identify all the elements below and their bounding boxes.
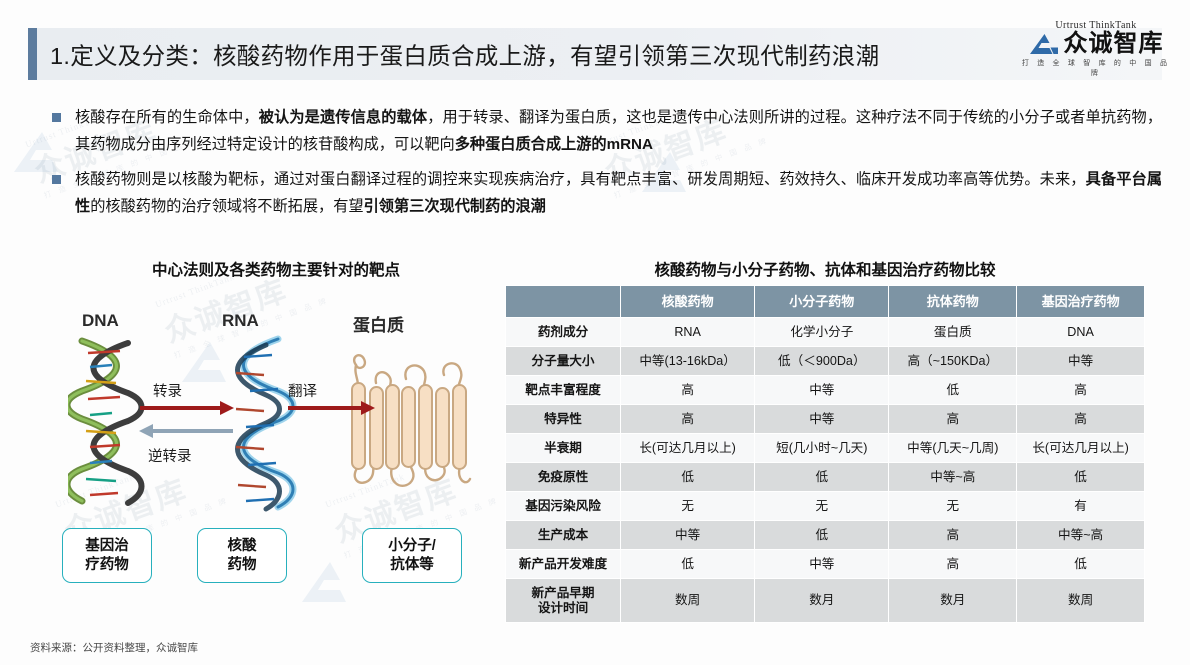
table-cell: 中等(13-16kDa） — [621, 347, 755, 376]
label-protein: 蛋白质 — [353, 311, 404, 336]
transcription-arrow-icon — [140, 400, 235, 416]
dna-helix-illustration — [68, 337, 148, 517]
table-row-header: 生产成本 — [506, 521, 621, 550]
table-cell: 低 — [755, 521, 889, 550]
table-cell: 低 — [1017, 550, 1145, 579]
table-cell: RNA — [621, 318, 755, 347]
table-cell: 数周 — [1017, 579, 1145, 623]
category-box-small-molecule-antibody: 小分子/ 抗体等 — [362, 528, 462, 583]
table-cell: 中等~高 — [889, 463, 1017, 492]
left-panel-caption: 中心法则及各类药物主要针对的靶点 — [106, 258, 446, 280]
bottom-divider — [0, 665, 1190, 669]
page-title: 1.定义及分类：核酸药物作用于蛋白质合成上游，有望引领第三次现代制药浪潮 — [50, 37, 879, 71]
table-row-header: 特异性 — [506, 405, 621, 434]
table-cell: 无 — [621, 492, 755, 521]
table-cell: DNA — [1017, 318, 1145, 347]
table-cell: 中等 — [755, 405, 889, 434]
table-row: 半衰期长(可达几月以上)短(几小时~几天)中等(几天~几周)长(可达几月以上) — [506, 434, 1145, 463]
table-cell: 中等(几天~几周) — [889, 434, 1017, 463]
table-cell: 低 — [755, 463, 889, 492]
table-row: 新产品早期设计时间数周数月数月数周 — [506, 579, 1145, 623]
table-cell: 低（＜900Da） — [755, 347, 889, 376]
table-row-header: 新产品早期设计时间 — [506, 579, 621, 623]
table-row: 分子量大小中等(13-16kDa）低（＜900Da）高（~150KDa）中等 — [506, 347, 1145, 376]
table-cell: 蛋白质 — [889, 318, 1017, 347]
table-column-header-4: 基因治疗药物 — [1017, 286, 1145, 318]
brand-logo: Urtrust ThinkTank 众诚智库 打 造 全 球 智 库 的 中 国… — [1016, 20, 1176, 78]
table-cell: 中等 — [755, 550, 889, 579]
source-note: 资料来源：公开资料整理，众诚智库 — [30, 640, 198, 655]
table-column-header-1: 核酸药物 — [621, 286, 755, 318]
bullet-text: 核酸药物则是以核酸为靶标，通过对蛋白翻译过程的调控来实现疾病治疗，具有靶点丰富、… — [75, 166, 1162, 220]
table-cell: 高 — [889, 405, 1017, 434]
table-cell: 高 — [889, 521, 1017, 550]
table-cell: 中等 — [1017, 347, 1145, 376]
right-panel-caption: 核酸药物与小分子药物、抗体和基因治疗药物比较 — [505, 258, 1145, 280]
table-row-header: 药剂成分 — [506, 318, 621, 347]
table-cell: 中等 — [755, 376, 889, 405]
table-cell: 高 — [889, 550, 1017, 579]
table-header-corner — [506, 286, 621, 318]
bullet-span: 核酸存在所有的生命体中， — [75, 109, 259, 126]
comparison-table: 核酸药物小分子药物抗体药物基因治疗药物 药剂成分RNA化学小分子蛋白质DNA分子… — [505, 285, 1145, 623]
bullet-text: 核酸存在所有的生命体中，被认为是遗传信息的载体，用于转录、翻译为蛋白质，这也是遗… — [75, 104, 1162, 158]
table-body: 药剂成分RNA化学小分子蛋白质DNA分子量大小中等(13-16kDa）低（＜90… — [506, 318, 1145, 623]
table-row: 药剂成分RNA化学小分子蛋白质DNA — [506, 318, 1145, 347]
table-cell: 短(几小时~几天) — [755, 434, 889, 463]
table-row-header: 免疫原性 — [506, 463, 621, 492]
slide-root: Urtrust ThinkTank 众诚智库 打 造 全 球 智 库 的 中 国… — [0, 0, 1190, 669]
category-box-line2: 药物 — [228, 556, 257, 575]
table-row-header: 新产品开发难度 — [506, 550, 621, 579]
table-cell: 高（~150KDa） — [889, 347, 1017, 376]
logo-tagline: 打 造 全 球 智 库 的 中 国 品 牌 — [1016, 58, 1176, 78]
table-cell: 高 — [621, 405, 755, 434]
table-cell: 无 — [889, 492, 1017, 521]
category-box-nucleic-acid-drug: 核酸 药物 — [197, 528, 287, 583]
table-column-header-2: 小分子药物 — [755, 286, 889, 318]
table-cell: 高 — [1017, 376, 1145, 405]
label-transcription: 转录 — [153, 380, 182, 401]
table-cell: 高 — [1017, 405, 1145, 434]
table-cell: 低 — [1017, 463, 1145, 492]
table-cell: 低 — [889, 376, 1017, 405]
table-cell: 长(可达几月以上) — [621, 434, 755, 463]
bullet-list: 核酸存在所有的生命体中，被认为是遗传信息的载体，用于转录、翻译为蛋白质，这也是遗… — [52, 104, 1162, 228]
category-box-line1: 核酸 — [228, 537, 257, 556]
logo-sail-icon — [1029, 32, 1059, 56]
table-cell: 中等 — [621, 521, 755, 550]
table-cell: 数月 — [755, 579, 889, 623]
table-cell: 化学小分子 — [755, 318, 889, 347]
table-cell: 中等~高 — [1017, 521, 1145, 550]
label-translation: 翻译 — [288, 380, 317, 401]
table-cell: 长(可达几月以上) — [1017, 434, 1145, 463]
bullet-span: 核酸药物则是以核酸为靶标，通过对蛋白翻译过程的调控来实现疾病治疗，具有靶点丰富、… — [75, 171, 1086, 188]
list-item: 核酸存在所有的生命体中，被认为是遗传信息的载体，用于转录、翻译为蛋白质，这也是遗… — [52, 104, 1162, 158]
table-cell: 低 — [621, 550, 755, 579]
bullet-emphasis: 多种蛋白质合成上游的mRNA — [455, 136, 653, 153]
category-box-line1: 小分子/ — [388, 537, 436, 556]
reverse-transcription-arrow-icon — [138, 423, 233, 439]
table-header-row: 核酸药物小分子药物抗体药物基因治疗药物 — [506, 286, 1145, 318]
list-item: 核酸药物则是以核酸为靶标，通过对蛋白翻译过程的调控来实现疾病治疗，具有靶点丰富、… — [52, 166, 1162, 220]
translation-arrow-icon — [288, 400, 376, 416]
label-reverse-transcription: 逆转录 — [148, 445, 192, 466]
bullet-span: 的核酸药物的治疗领域将不断拓展，有望 — [90, 198, 363, 215]
table-row: 基因污染风险无无无有 — [506, 492, 1145, 521]
table-cell: 数月 — [889, 579, 1017, 623]
slide-title-bar: 1.定义及分类：核酸药物作用于蛋白质合成上游，有望引领第三次现代制药浪潮 — [28, 28, 1162, 80]
bullet-emphasis: 被认为是遗传信息的载体 — [259, 109, 427, 126]
bullet-square-icon — [52, 175, 61, 184]
table-row: 靶点丰富程度高中等低高 — [506, 376, 1145, 405]
table-row-header: 半衰期 — [506, 434, 621, 463]
table-row: 特异性高中等高高 — [506, 405, 1145, 434]
table-row: 生产成本中等低高中等~高 — [506, 521, 1145, 550]
table-cell: 高 — [621, 376, 755, 405]
protein-structure-illustration — [348, 335, 478, 510]
bullet-emphasis: 引领第三次现代制药的浪潮 — [364, 198, 546, 215]
comparison-table-wrapper: 核酸药物小分子药物抗体药物基因治疗药物 药剂成分RNA化学小分子蛋白质DNA分子… — [505, 285, 1145, 623]
category-box-line2: 疗药物 — [85, 556, 129, 575]
table-row-header: 基因污染风险 — [506, 492, 621, 521]
logo-chinese-name: 众诚智库 — [1064, 32, 1164, 56]
table-row-header: 分子量大小 — [506, 347, 621, 376]
bullet-square-icon — [52, 113, 61, 122]
table-row: 免疫原性低低中等~高低 — [506, 463, 1145, 492]
table-cell: 数周 — [621, 579, 755, 623]
table-row-header: 靶点丰富程度 — [506, 376, 621, 405]
category-box-gene-therapy: 基因治 疗药物 — [62, 528, 152, 583]
category-box-line1: 基因治 — [85, 537, 129, 556]
table-cell: 低 — [621, 463, 755, 492]
logo-english-name: Urtrust ThinkTank — [1016, 20, 1176, 31]
category-box-line2: 抗体等 — [388, 556, 436, 575]
table-row: 新产品开发难度低中等高低 — [506, 550, 1145, 579]
central-dogma-diagram: DNA RNA 蛋白质 转录 逆转录 翻译 基因治 疗药物 核酸 药物 小分子/… — [40, 295, 500, 635]
label-rna: RNA — [222, 311, 259, 331]
table-column-header-3: 抗体药物 — [889, 286, 1017, 318]
table-cell: 无 — [755, 492, 889, 521]
table-header: 核酸药物小分子药物抗体药物基因治疗药物 — [506, 286, 1145, 318]
table-cell: 有 — [1017, 492, 1145, 521]
label-dna: DNA — [82, 311, 119, 331]
